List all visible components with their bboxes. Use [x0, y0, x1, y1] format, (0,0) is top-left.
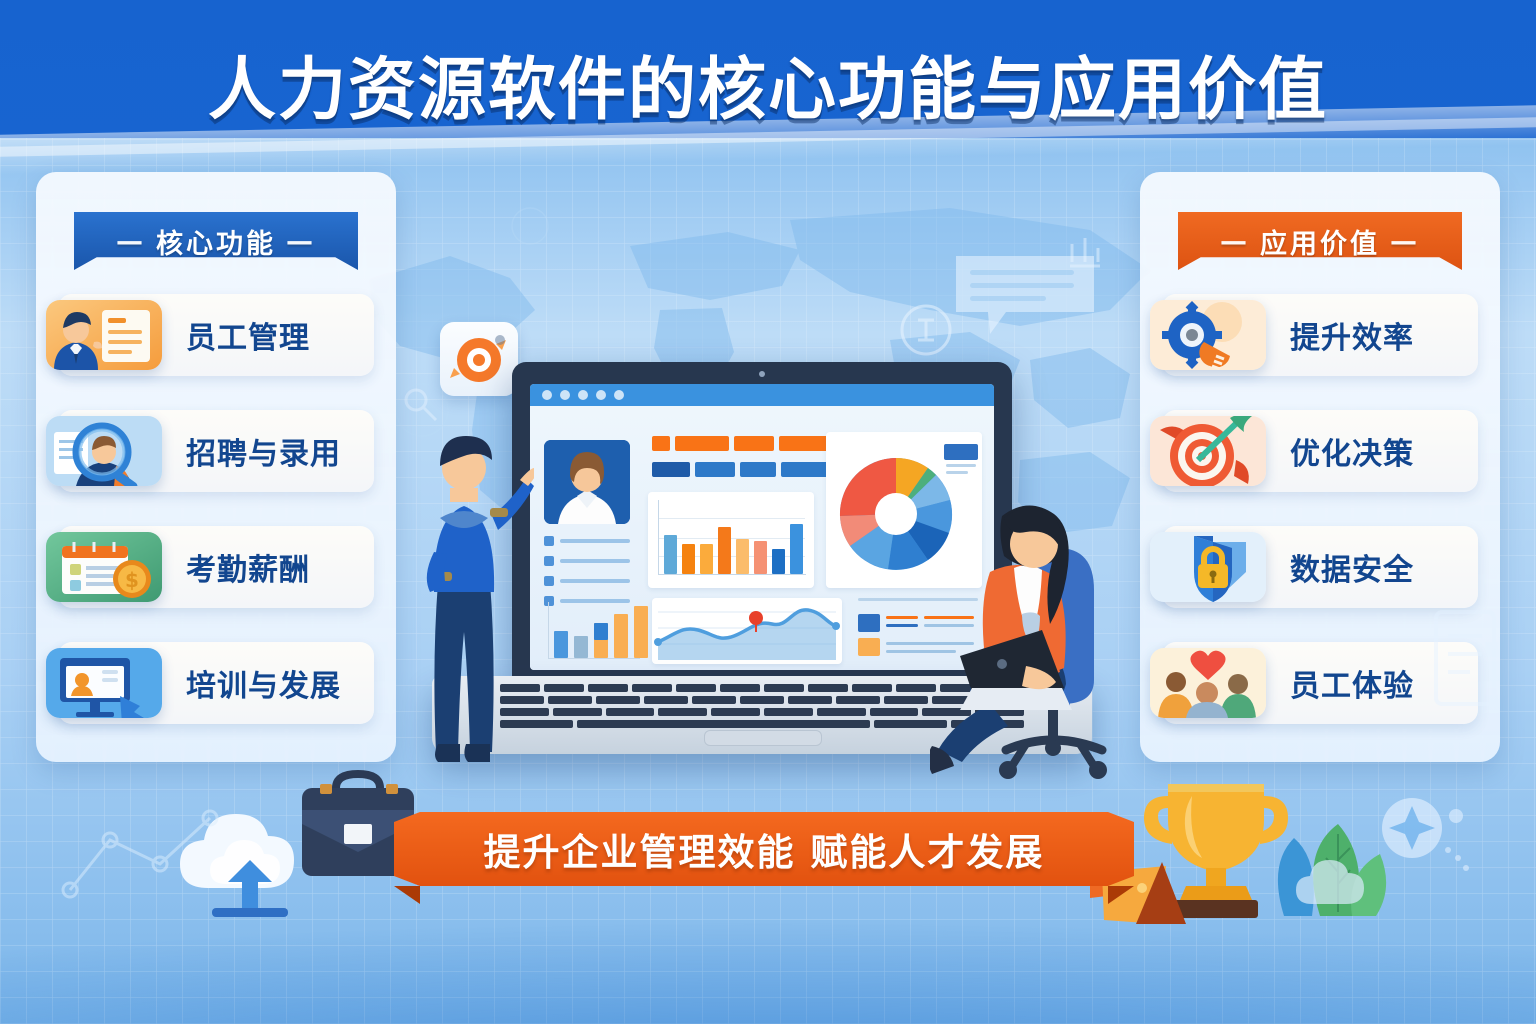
- value-item-security[interactable]: 数据安全: [1162, 526, 1478, 608]
- person-pointing-at-screen: [404, 432, 534, 762]
- tag: [781, 462, 831, 477]
- tag: [779, 436, 833, 451]
- list-bullet: [544, 556, 554, 566]
- window-dot: [614, 390, 624, 400]
- tag: [652, 462, 690, 477]
- gear-rocket-icon: [1150, 300, 1266, 370]
- dashboard-mini-bar-chart: [542, 602, 642, 664]
- bottom-banner: 提升企业管理效能 赋能人才发展: [394, 812, 1134, 886]
- tag: [675, 436, 729, 451]
- svg-text:$: $: [125, 568, 139, 592]
- laptop-screen: [530, 384, 994, 670]
- list-bullet: [544, 536, 554, 546]
- employee-avatar-card: [544, 440, 630, 524]
- dashboard-area-chart: [652, 598, 842, 664]
- value-label: 提升效率: [1290, 313, 1414, 357]
- feature-label: 考勤薪酬: [186, 545, 310, 589]
- banner-text: 提升企业管理效能 赋能人才发展: [484, 822, 1045, 876]
- ribbon-dash-left: —: [1220, 226, 1250, 257]
- laptop-trackpad: [704, 730, 822, 746]
- tag: [740, 462, 776, 477]
- currency-circle-icon: [896, 300, 956, 360]
- peak-marker: [749, 611, 763, 625]
- window-dot: [542, 390, 552, 400]
- network-nodes-icon: [1062, 228, 1108, 274]
- value-label: 数据安全: [1290, 545, 1414, 589]
- dashboard-titlebar: [530, 384, 994, 406]
- list-bullet: [544, 576, 554, 586]
- laptop-camera: [759, 371, 765, 377]
- window-dot: [596, 390, 606, 400]
- employee-profile-icon: [46, 300, 162, 370]
- window-dot: [560, 390, 570, 400]
- value-item-decision[interactable]: 优化决策: [1162, 410, 1478, 492]
- list-line: [560, 559, 630, 563]
- right-panel-ribbon: — 应用价值 —: [1178, 212, 1462, 270]
- shield-lock-icon: [1150, 532, 1266, 602]
- tag: [652, 436, 670, 451]
- value-label: 员工体验: [1290, 661, 1414, 705]
- left-panel: — 核心功能 —: [36, 172, 396, 762]
- analytics-icon: [398, 382, 444, 428]
- dashboard-bar-chart: [648, 492, 814, 588]
- target-arrow-icon: [1150, 416, 1266, 486]
- right-ribbon-label: 应用价值: [1260, 222, 1380, 261]
- feature-item-training[interactable]: 培训与发展: [58, 642, 374, 724]
- feature-item-attendance-payroll[interactable]: $ 考勤薪酬: [58, 526, 374, 608]
- value-item-efficiency[interactable]: 提升效率: [1162, 294, 1478, 376]
- left-ribbon-label: 核心功能: [156, 222, 276, 261]
- calendar-coin-icon: $: [46, 532, 162, 602]
- window-dot: [578, 390, 588, 400]
- left-panel-ribbon: — 核心功能 —: [74, 212, 358, 270]
- tag: [695, 462, 735, 477]
- list-line: [560, 539, 630, 543]
- person-seated-with-laptop: [930, 498, 1160, 798]
- feature-item-recruiting[interactable]: 招聘与录用: [58, 410, 374, 492]
- value-label: 优化决策: [1290, 429, 1414, 473]
- document-icon: [1420, 600, 1510, 720]
- orange-tag-row: [652, 436, 833, 451]
- feature-label: 培训与发展: [186, 661, 341, 705]
- poster-title-wrap: 人力资源软件的核心功能与应用价值: [0, 34, 1536, 133]
- feature-label: 员工管理: [186, 313, 310, 357]
- recruit-search-icon: [46, 416, 162, 486]
- poster-root: 人力资源软件的核心功能与应用价值 — 核心功能 —: [0, 0, 1536, 1024]
- tag: [734, 436, 774, 451]
- feature-label: 招聘与录用: [186, 429, 341, 473]
- feature-item-employee-management[interactable]: 员工管理: [58, 294, 374, 376]
- page-title: 人力资源软件的核心功能与应用价值: [208, 34, 1328, 133]
- blue-tag-row: [652, 462, 831, 477]
- team-heart-icon: [1150, 648, 1266, 718]
- ribbon-dash-right: —: [286, 226, 316, 257]
- ribbon-dash-right: —: [1390, 226, 1420, 257]
- training-screen-icon: [46, 648, 162, 718]
- target-compass-card-icon: [440, 322, 518, 396]
- list-line: [560, 579, 630, 583]
- ribbon-dash-left: —: [116, 226, 146, 257]
- dashboard-body: [530, 406, 994, 670]
